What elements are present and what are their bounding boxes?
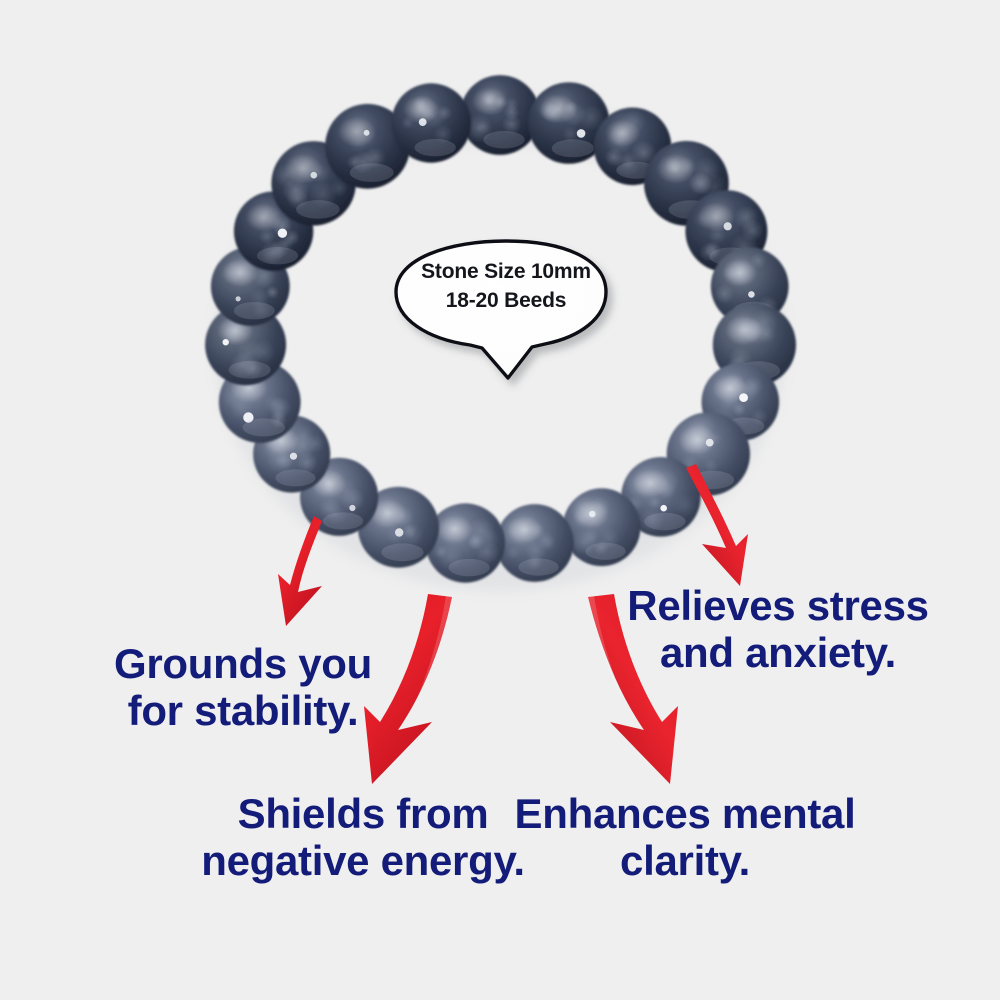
infographic-canvas: Stone Size 10mm 18-20 Beeds Grounds you … xyxy=(0,0,1000,1000)
callout-text: Stone Size 10mm 18-20 Beeds xyxy=(400,258,612,316)
benefit-label-relieves: Relieves stress and anxiety. xyxy=(608,582,948,676)
benefit-label-enhances: Enhances mental clarity. xyxy=(500,790,870,884)
benefit-label-shields: Shields from negative energy. xyxy=(178,790,548,884)
benefit-label-grounds: Grounds you for stability. xyxy=(78,640,408,734)
